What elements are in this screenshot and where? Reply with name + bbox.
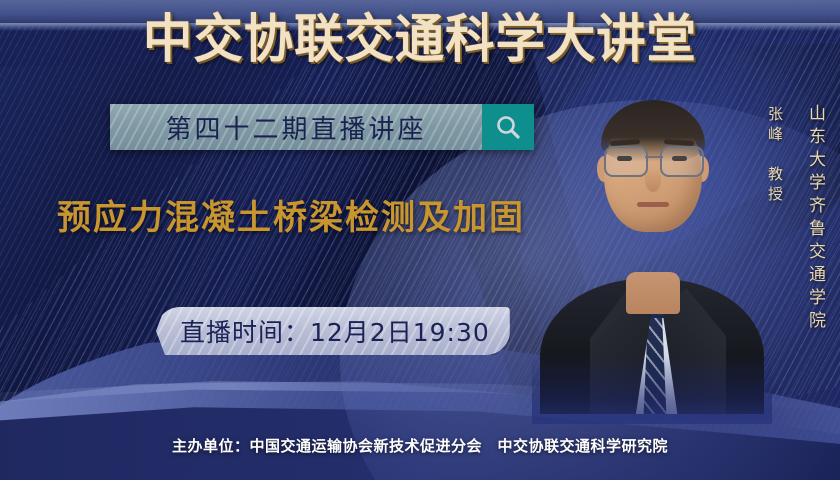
webinar-poster: 中交协联交通科学大讲堂 第四十二期直播讲座 预应力混凝土桥梁检测及加固 直播时间… bbox=[0, 0, 840, 480]
portrait-lens-right bbox=[660, 146, 704, 177]
portrait-glasses-bridge bbox=[645, 156, 663, 158]
portrait-bottom-fade bbox=[532, 354, 772, 424]
subtitle-bar: 第四十二期直播讲座 bbox=[110, 104, 534, 150]
subtitle-bar-panel: 第四十二期直播讲座 bbox=[110, 104, 482, 150]
portrait-lens-left bbox=[604, 146, 648, 177]
subtitle-label: 第四十二期直播讲座 bbox=[165, 109, 426, 146]
speaker-name: 张峰 教授 bbox=[765, 106, 786, 206]
lecture-topic-title: 预应力混凝土桥梁检测及加固 bbox=[57, 190, 525, 239]
speaker-portrait bbox=[552, 84, 752, 414]
portrait-nose bbox=[645, 168, 661, 192]
organizer-footer: 主办单位：中国交通运输协会新技术促进分会 中交协联交通科学研究院 bbox=[0, 435, 840, 456]
broadcast-time-badge: 直播时间：12月2日19:30 bbox=[156, 307, 510, 355]
portrait-mouth bbox=[637, 202, 669, 207]
search-icon bbox=[494, 113, 522, 141]
broadcast-time-label: 直播时间：12月2日19:30 bbox=[180, 313, 490, 349]
speaker-affiliation: 山东大学齐鲁交通学院 bbox=[803, 104, 828, 334]
page-title: 中交协联交通科学大讲堂 bbox=[21, 14, 819, 66]
search-button[interactable] bbox=[482, 104, 534, 150]
portrait-neck bbox=[626, 272, 680, 314]
